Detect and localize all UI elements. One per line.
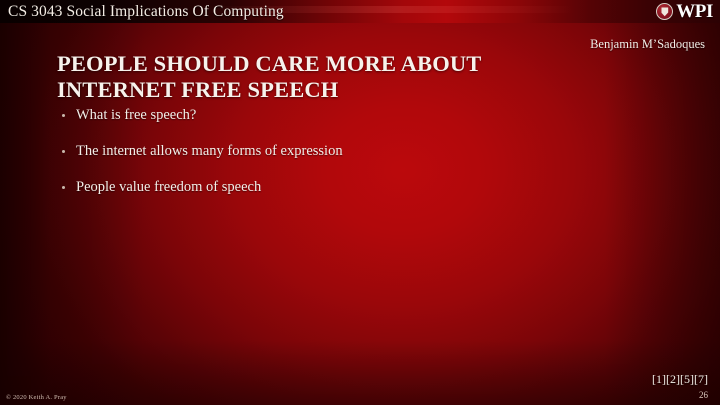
bullet-text: What is free speech? — [76, 107, 196, 123]
author-name: Benjamin M’Sadoques — [590, 36, 705, 52]
copyright-notice: © 2020 Keith A. Pray — [6, 393, 67, 402]
slide-title: PEOPLE SHOULD CARE MORE ABOUT INTERNET F… — [57, 51, 527, 102]
bullet-text: The internet allows many forms of expres… — [76, 143, 343, 159]
bullet-list: What is free speech? The internet allows… — [60, 106, 580, 214]
bullet-item: The internet allows many forms of expres… — [60, 142, 580, 161]
bullet-dot-icon — [62, 114, 65, 117]
wpi-wordmark: WPI — [676, 2, 713, 21]
course-title: CS 3043 Social Implications Of Computing — [8, 1, 284, 22]
bullet-item: People value freedom of speech — [60, 178, 580, 197]
bullet-text: People value freedom of speech — [76, 179, 261, 195]
wpi-shield-seal-icon — [656, 3, 673, 20]
bullet-item: What is free speech? — [60, 106, 580, 125]
bullet-dot-icon — [62, 150, 65, 153]
citation-references: [1][2][5][7] — [652, 372, 708, 386]
wpi-logo: WPI — [656, 1, 713, 22]
bullet-dot-icon — [62, 186, 65, 189]
page-number: 26 — [699, 390, 708, 401]
presentation-slide: CS 3043 Social Implications Of Computing… — [0, 0, 720, 405]
slide-header-bar: CS 3043 Social Implications Of Computing — [0, 0, 720, 23]
